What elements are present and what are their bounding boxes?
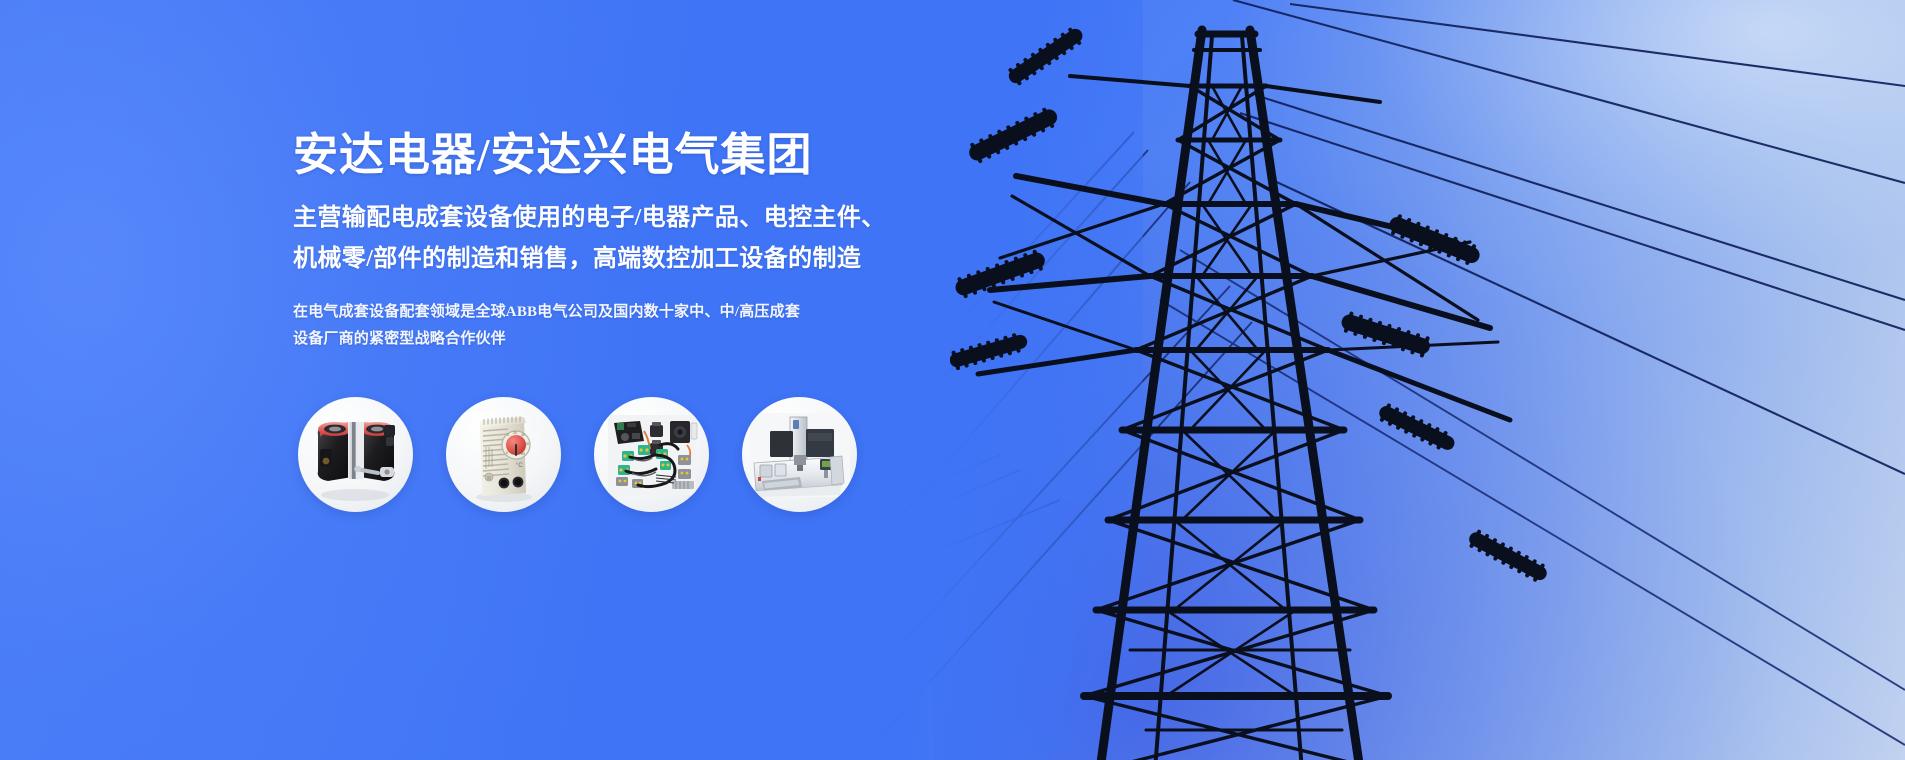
current-transformer-split-core-icon	[298, 397, 413, 512]
svg-text:20: 20	[513, 431, 517, 435]
product-bubble-current-transformer[interactable]	[298, 397, 413, 512]
product-bubble-control-components[interactable]	[594, 397, 709, 512]
subtitle-line-1: 主营输配电成套设备使用的电子/电器产品、电控主件、	[293, 198, 1073, 239]
panel-thermostat-controller-icon: 02040 60600 °C	[446, 397, 561, 512]
cnc-machining-center-icon	[742, 397, 857, 512]
left-panel-glow	[0, 0, 876, 760]
svg-text:60: 60	[521, 452, 525, 456]
hero-banner: 安达电器/安达兴电气集团 主营输配电成套设备使用的电子/电器产品、电控主件、 机…	[0, 0, 1905, 760]
svg-text:°C: °C	[516, 463, 523, 469]
product-bubble-thermostat[interactable]: 02040 60600 °C	[446, 397, 561, 512]
subtitle-line-2: 机械零/部件的制造和销售，高端数控加工设备的制造	[293, 239, 1073, 280]
description-line-1: 在电气成套设备配套领域是全球ABB电气公司及国内数十家中、中/高压成套	[293, 299, 1073, 326]
svg-text:40: 40	[521, 433, 525, 437]
product-thumbnail-row: 02040 60600 °C	[298, 397, 857, 512]
svg-text:0: 0	[507, 433, 509, 437]
product-bubble-cnc-machine[interactable]	[742, 397, 857, 512]
description-line-2: 设备厂商的紧密型战略合作伙伴	[293, 326, 1073, 353]
svg-text:60: 60	[525, 442, 529, 446]
svg-text:0: 0	[506, 451, 508, 455]
electrical-control-components-icon	[594, 397, 709, 512]
hero-text-block: 安达电器/安达兴电气集团 主营输配电成套设备使用的电子/电器产品、电控主件、 机…	[293, 128, 1073, 353]
page-title: 安达电器/安达兴电气集团	[293, 128, 1073, 182]
